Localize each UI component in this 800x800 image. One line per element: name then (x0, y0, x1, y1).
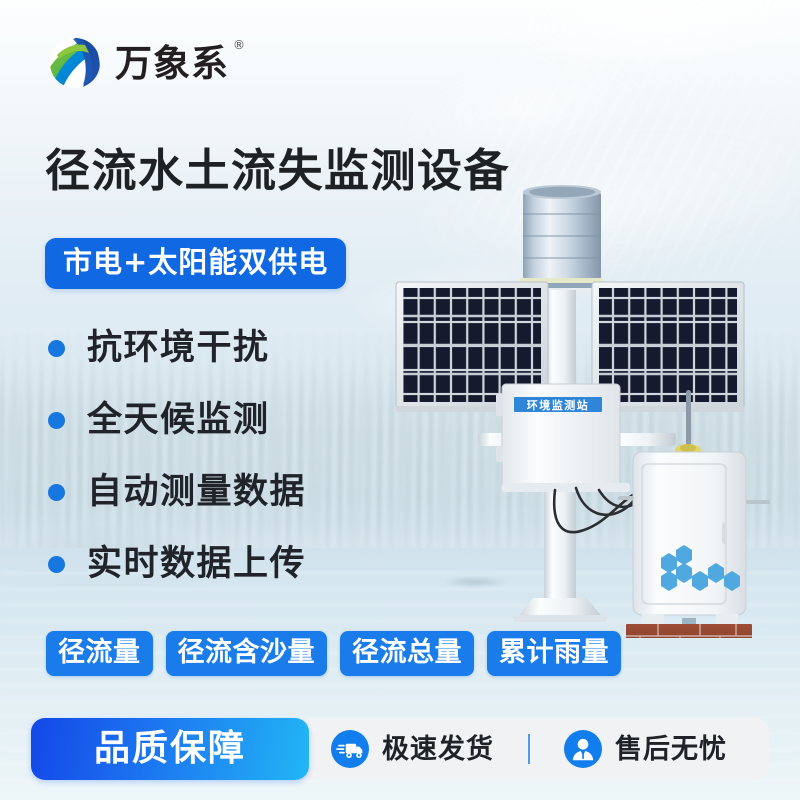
bullet-dot-icon (48, 412, 65, 429)
rain-gauge-cylinder (490, 185, 634, 293)
delivery-truck-icon (331, 730, 369, 768)
brand-name-text: 万象系 (115, 42, 229, 85)
measurement-tag: 径流总量 (340, 631, 474, 676)
feature-label: 全天候监测 (87, 403, 270, 438)
customer-service-person-icon (564, 730, 602, 768)
feature-label: 实时数据上传 (87, 547, 306, 582)
power-supply-badge: 市电+太阳能双供电 (45, 238, 346, 289)
brand-logo: 万象系 ® (45, 33, 229, 93)
bullet-dot-icon (48, 556, 65, 573)
list-item: 抗环境干扰 (48, 312, 306, 384)
service-divider (528, 734, 530, 764)
product-poster: 环境监测站 (0, 0, 800, 800)
list-item: 自动测量数据 (48, 456, 306, 528)
bullet-dot-icon (48, 340, 65, 357)
service-guarantee-bar: 品质保障 极速发货 (31, 718, 769, 780)
service-item-fast-shipping: 极速发货 (331, 730, 494, 768)
brand-name-wordmark: 万象系 ® (115, 45, 229, 82)
list-item: 实时数据上传 (48, 528, 306, 600)
product-illustration: 环境监测站 (370, 178, 790, 638)
registered-trademark-mark: ® (233, 39, 246, 51)
page-title: 径流水土流失监测设备 (45, 148, 510, 193)
bullet-dot-icon (48, 484, 65, 501)
measurement-tag-list: 径流量 径流含沙量 径流总量 累计雨量 (46, 631, 621, 676)
brick-base (626, 624, 752, 638)
service-item-label: 售后无忧 (615, 736, 727, 763)
measurement-tag: 累计雨量 (487, 631, 621, 676)
equipment-cabinet (618, 452, 770, 638)
quality-guarantee-label: 品质保障 (94, 731, 246, 767)
service-item-label: 极速发货 (382, 736, 494, 763)
globe-swirl-logo-icon (45, 33, 105, 93)
service-item-after-sales: 售后无忧 (564, 730, 727, 768)
list-item: 全天候监测 (48, 384, 306, 456)
measurement-tag: 径流含沙量 (166, 631, 328, 676)
controller-box-label: 环境监测站 (527, 398, 590, 412)
feature-label: 自动测量数据 (87, 475, 306, 510)
feature-label: 抗环境干扰 (87, 331, 270, 366)
measurement-tag: 径流量 (46, 631, 153, 676)
service-item-list: 极速发货 售后无忧 (331, 718, 727, 780)
feature-list: 抗环境干扰 全天候监测 自动测量数据 实时数据上传 (48, 312, 306, 600)
controller-box: 环境监测站 (496, 384, 630, 492)
quality-guarantee-badge: 品质保障 (31, 718, 309, 780)
